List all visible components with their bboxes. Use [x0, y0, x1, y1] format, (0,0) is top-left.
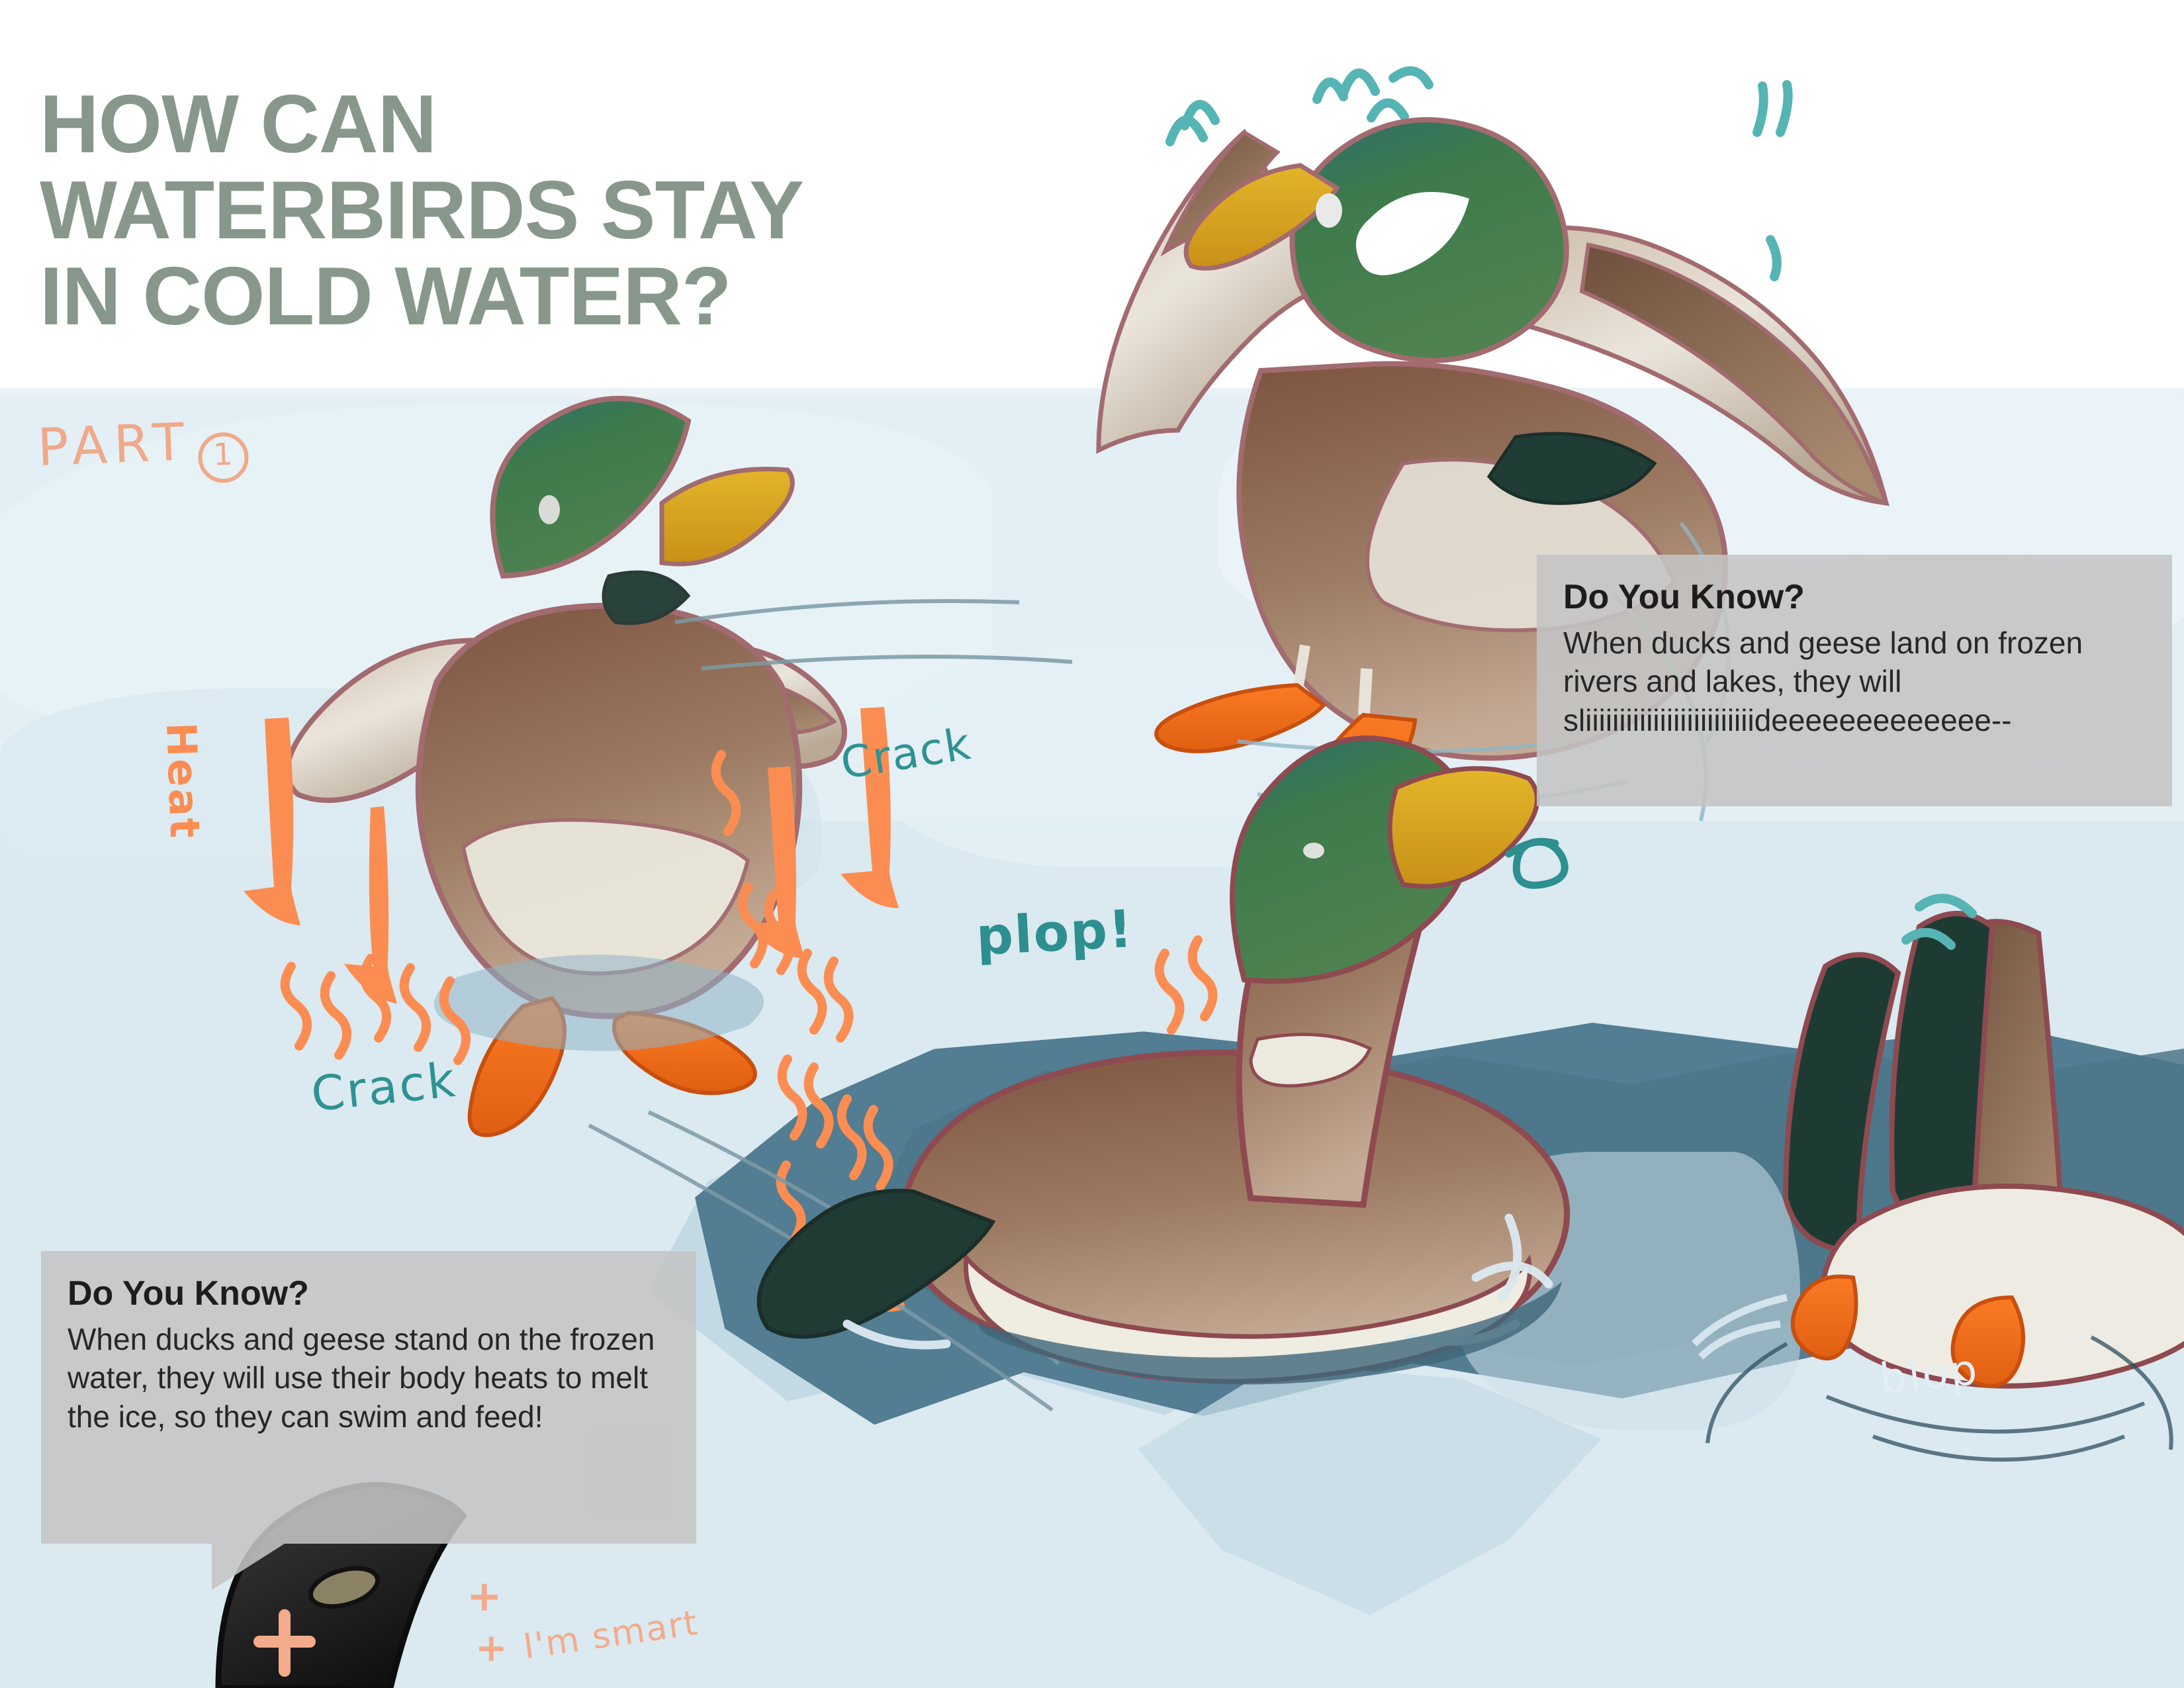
annotation-heat: Heat [157, 722, 209, 841]
annotation-blop: blop [1878, 1345, 1981, 1404]
info-box-landing: Do You Know? When ducks and geese land o… [1537, 555, 2172, 806]
part-label: PART1 [36, 410, 249, 490]
ice-patch-left [450, 728, 821, 914]
title-line-2: WATERBIRDS STAY [40, 167, 1112, 254]
ice-patch-water-edge [1456, 1152, 1800, 1430]
title-line-1: HOW CAN [40, 81, 1112, 167]
motion-scribbles-top [1170, 71, 1788, 277]
part-label-text: PART [36, 412, 192, 478]
info-box-landing-heading: Do You Know? [1563, 577, 2146, 617]
annotation-plus-upper: + [467, 1572, 502, 1621]
info-box-standing: Do You Know? When ducks and geese stand … [41, 1251, 696, 1544]
info-box-landing-body: When ducks and geese land on frozen rive… [1563, 624, 2146, 739]
info-box-standing-tail [212, 1544, 285, 1590]
part-number-badge: 1 [197, 432, 250, 484]
page-title: HOW CAN WATERBIRDS STAY IN COLD WATER? [40, 81, 1112, 340]
infographic-canvas: HOW CAN WATERBIRDS STAY IN COLD WATER? P… [0, 0, 2184, 1688]
annotation-plus-lower: + [475, 1625, 508, 1670]
info-box-standing-body: When ducks and geese stand on the frozen… [68, 1320, 670, 1436]
info-box-standing-heading: Do You Know? [68, 1274, 670, 1313]
annotation-plop: plop! [975, 900, 1135, 967]
title-line-3: IN COLD WATER? [40, 254, 1112, 340]
